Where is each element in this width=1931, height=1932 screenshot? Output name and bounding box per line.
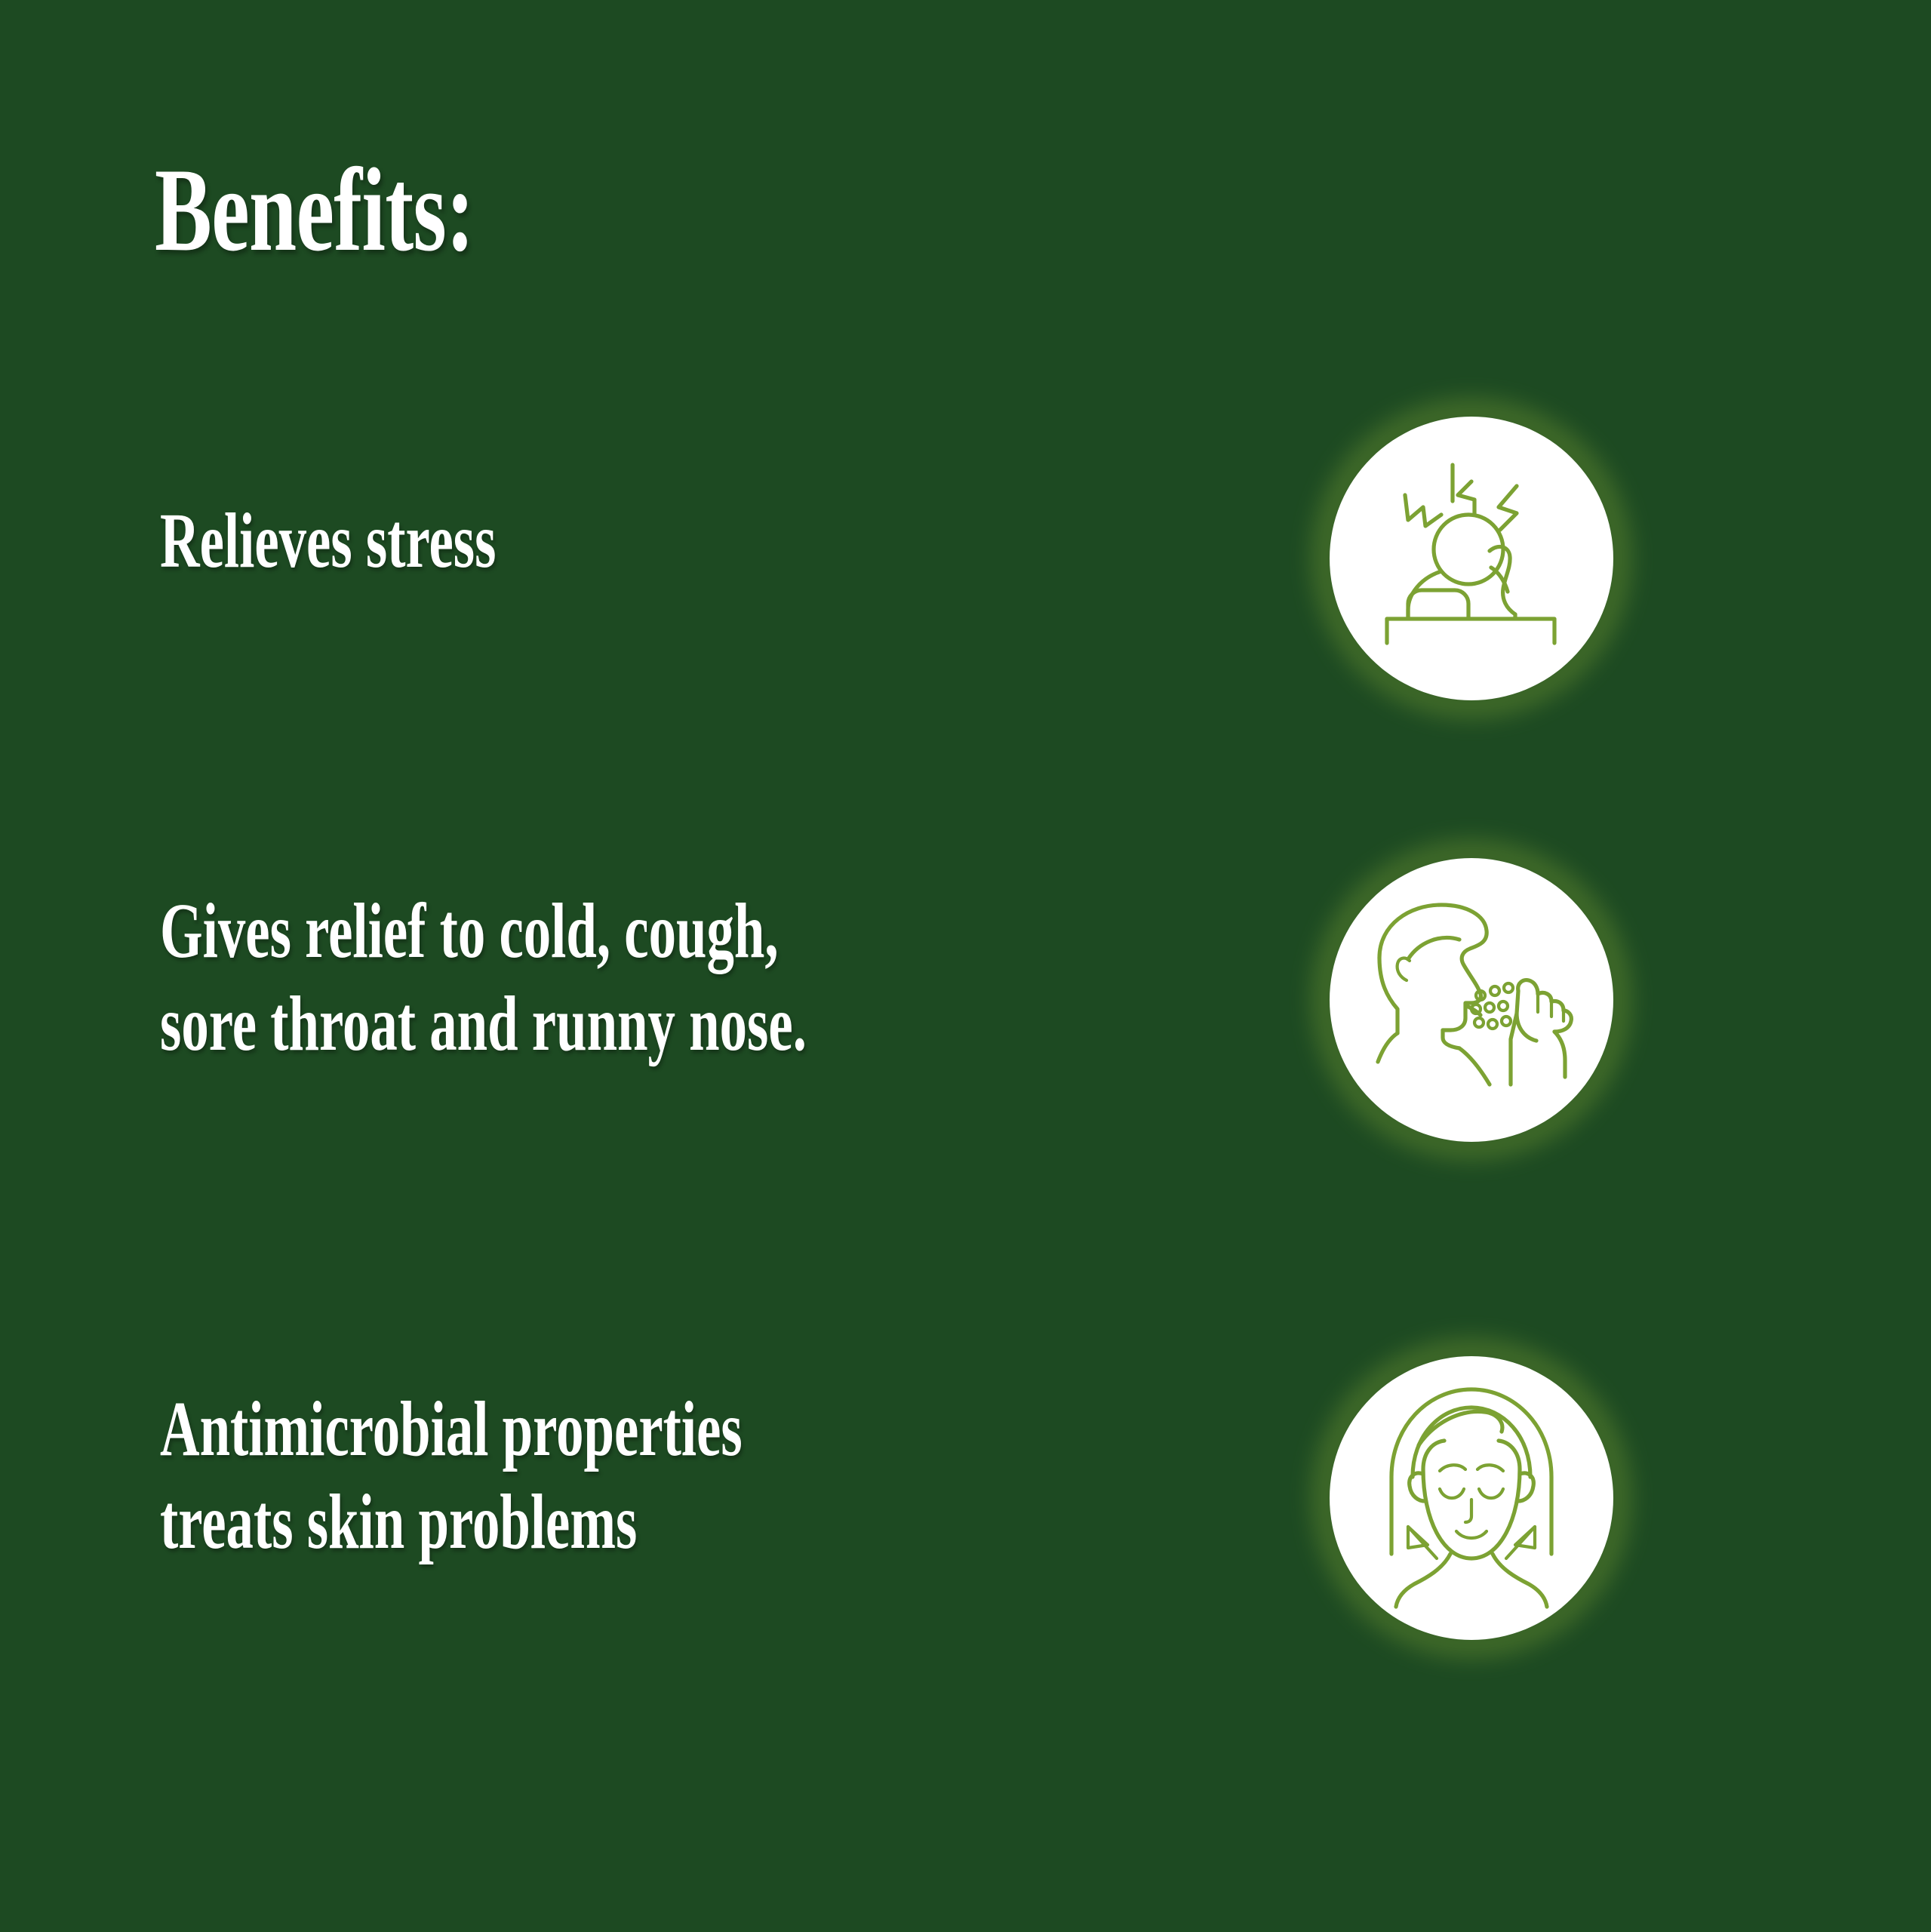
benefit-item: Relieves stress — [0, 408, 1931, 709]
benefits-poster: Benefits: Relieves stress — [0, 0, 1931, 1932]
page-title: Benefits: — [155, 151, 474, 270]
facial-skin-care-icon — [1330, 1356, 1613, 1640]
icon-disc — [1330, 417, 1613, 700]
icon-disc — [1330, 858, 1613, 1142]
benefit-label: Gives relief to cold, cough, sore throat… — [160, 885, 889, 1070]
benefit-label: Relieves stress — [160, 495, 889, 588]
icon-disc — [1330, 1356, 1613, 1640]
benefit-item: Gives relief to cold, cough, sore throat… — [0, 849, 1931, 1151]
coughing-person-icon — [1330, 858, 1613, 1142]
benefit-label: Antimicrobial properties treats skin pro… — [160, 1383, 889, 1568]
benefit-item: Antimicrobial properties treats skin pro… — [0, 1347, 1931, 1649]
benefit-icon-badge — [1313, 1340, 1630, 1657]
stressed-person-at-desk-icon — [1330, 417, 1613, 700]
benefit-icon-badge — [1313, 841, 1630, 1158]
benefit-icon-badge — [1313, 400, 1630, 717]
